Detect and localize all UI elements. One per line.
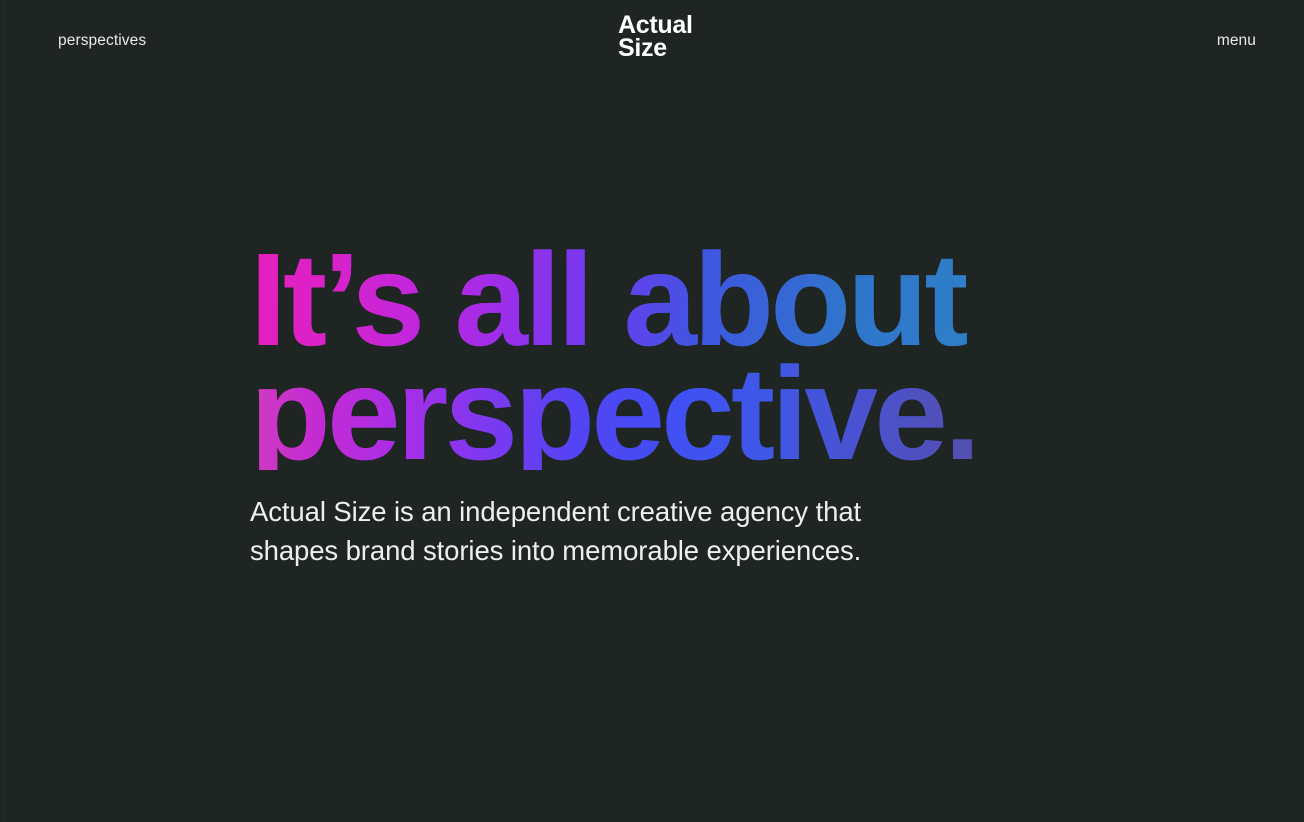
hero-subheadline: Actual Size is an independent creative a… (250, 492, 1040, 571)
left-edge-rule (3, 0, 4, 822)
nav-link-perspectives[interactable]: perspectives (58, 33, 146, 49)
page-root: perspectives Actual Size menu It’s all a… (0, 0, 1304, 822)
hero-subheadline-line-1: Actual Size is an independent creative a… (250, 492, 1040, 531)
hero-section: It’s all about perspective. Actual Size … (250, 243, 1080, 571)
hero-subheadline-line-2: shapes brand stories into memorable expe… (250, 531, 1040, 570)
menu-button[interactable]: menu (1217, 33, 1256, 49)
hero-headline-line-2: perspective. (250, 357, 1080, 471)
site-header: perspectives Actual Size menu (0, 0, 1304, 82)
brand-logo-line-2: Size (618, 37, 693, 60)
hero-headline: It’s all about perspective. (250, 243, 1080, 470)
brand-logo[interactable]: Actual Size (618, 14, 693, 61)
